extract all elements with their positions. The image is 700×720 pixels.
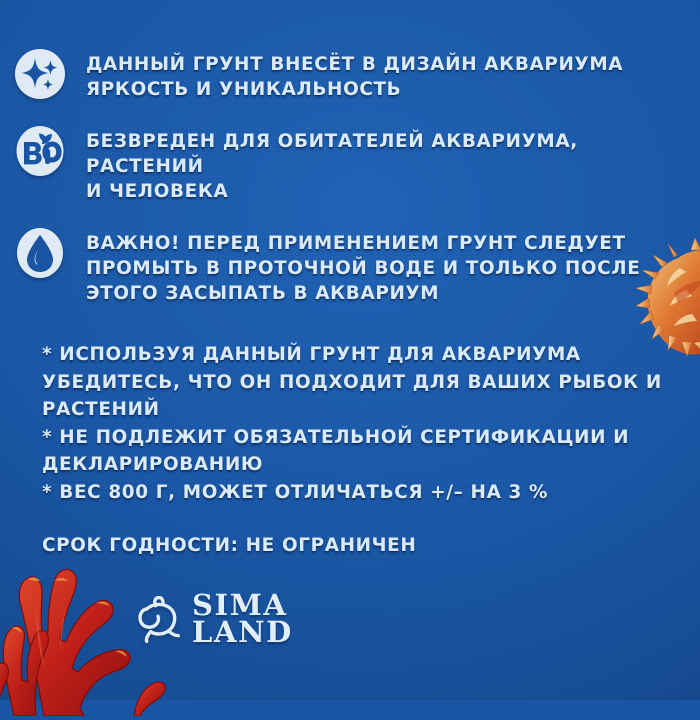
feature-list: Данный грунт внесёт в дизайн аквариума я… — [14, 46, 686, 327]
feature-text: Безвреден для обитателей аквариума, раст… — [86, 123, 686, 204]
feature-text: Данный грунт внесёт в дизайн аквариума я… — [86, 46, 623, 102]
brand-wordmark: SIMA LAND — [192, 592, 293, 646]
notes-block: * Используя данный грунт для аквариума у… — [42, 341, 672, 506]
note-item: * Не подлежит обязательной сертификации … — [42, 424, 672, 479]
feature-row: Важно! Перед применением грунт следует п… — [14, 225, 686, 306]
feature-row: Данный грунт внесёт в дизайн аквариума я… — [14, 46, 686, 102]
shelf-life-text: Срок годности: не ограничен — [42, 533, 416, 559]
feature-row: Безвреден для обитателей аквариума, раст… — [14, 123, 686, 204]
note-item: * Вес 800 г, может отличаться +/– на 3 % — [42, 479, 672, 507]
feature-text: Важно! Перед применением грунт следует п… — [86, 225, 640, 306]
brand-logo: SIMA LAND — [136, 592, 293, 646]
dolphin-icon — [136, 596, 180, 643]
brand-name-line2: LAND — [192, 619, 293, 646]
sparkle-icon — [14, 48, 66, 100]
water-drop-icon — [14, 227, 66, 279]
bio-icon — [14, 125, 66, 177]
note-item: * Используя данный грунт для аквариума у… — [42, 341, 672, 424]
